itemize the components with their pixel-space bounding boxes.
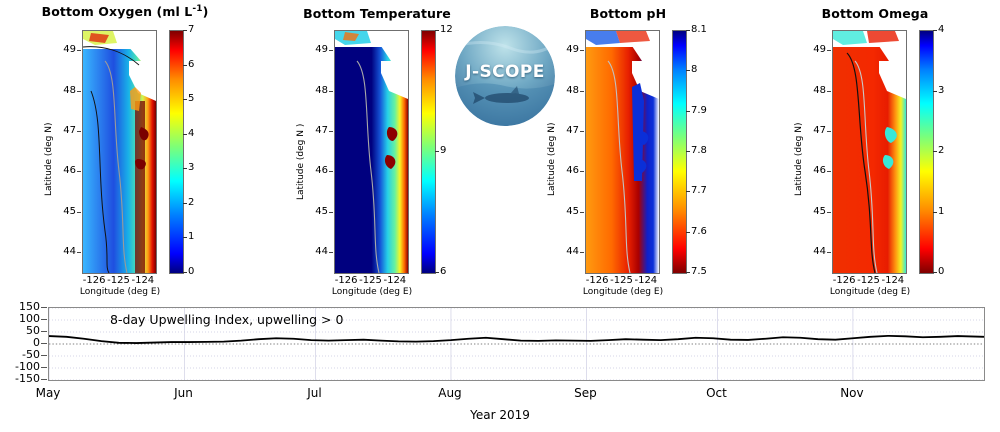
y-tick-bottom-oxygen: 47	[54, 125, 76, 136]
colorbar-ph	[672, 30, 687, 274]
colorbar-tick-bottom-oxygen: 5	[188, 93, 194, 104]
x-tick-bottom-omega: -124	[876, 275, 910, 286]
map-raster-ph	[586, 31, 659, 273]
chart-x-tick-label: Aug	[425, 386, 475, 400]
y-tick-bottom-oxygen: 49	[54, 44, 76, 55]
chart-data-line	[49, 336, 984, 343]
colorbar-tick-bottom-omega: 2	[938, 145, 944, 156]
chart-x-tick-label: Oct	[691, 386, 741, 400]
y-tick-bottom-temperature: 44	[306, 246, 328, 257]
y-tick-bottom-omega: 47	[804, 125, 826, 136]
y-tick-bottom-ph: 49	[557, 44, 579, 55]
colorbar-tick-bottom-oxygen: 0	[188, 266, 194, 277]
colorbar-tick-bottom-ph: 7.7	[691, 185, 707, 196]
y-tick-bottom-temperature: 48	[306, 85, 328, 96]
chart-y-tick-label: -150	[0, 372, 40, 385]
chart-x-tick-label: Jul	[290, 386, 340, 400]
y-tick-bottom-oxygen: 45	[54, 206, 76, 217]
panel-title-bottom-ph: Bottom pH	[503, 6, 753, 21]
x-tick-bottom-temperature: -124	[378, 275, 412, 286]
panel-title-bottom-oxygen: Bottom Oxygen (ml L-1)	[0, 4, 250, 19]
chart-x-tick-label: Sep	[560, 386, 610, 400]
colorbar-tick-bottom-oxygen: 1	[188, 231, 194, 242]
colorbar-oxygen	[169, 30, 184, 274]
y-tick-bottom-oxygen: 48	[54, 85, 76, 96]
map-image-bottom-oxygen	[82, 30, 157, 274]
chart-x-axis-label: Year 2019	[0, 408, 1000, 422]
y-tick-bottom-ph: 45	[557, 206, 579, 217]
colorbar-tick-bottom-ph: 7.5	[691, 266, 707, 277]
colorbar-tick-bottom-ph: 7.8	[691, 145, 707, 156]
map-image-bottom-temperature	[334, 30, 409, 274]
y-tick-bottom-ph: 48	[557, 85, 579, 96]
colorbar-tick-bottom-ph: 7.6	[691, 226, 707, 237]
panel-title-text: Bottom pH	[590, 6, 666, 21]
j-scope-logo: J-SCOPE	[455, 26, 555, 126]
chart-x-tick-label: Jun	[158, 386, 208, 400]
map-image-bottom-ph	[585, 30, 660, 274]
colorbar-tick-bottom-ph: 8	[691, 64, 697, 75]
colorbar-tick-bottom-omega: 0	[938, 266, 944, 277]
panel-title-superscript: -1	[192, 4, 202, 14]
panel-title-bottom-omega: Bottom Omega	[750, 6, 1000, 21]
y-tick-bottom-temperature: 49	[306, 44, 328, 55]
y-axis-label-temperature: Latitude (deg N )	[296, 124, 306, 200]
map-raster-temperature	[335, 31, 408, 273]
y-tick-bottom-omega: 48	[804, 85, 826, 96]
colorbar-tick-bottom-temperature: 6	[440, 266, 446, 277]
colorbar-tick-bottom-oxygen: 6	[188, 59, 194, 70]
upwelling-index-chart: 8-day Upwelling Index, upwelling > 0 150…	[0, 296, 1000, 432]
chart-x-tick-label: May	[23, 386, 73, 400]
colorbar-tick-bottom-oxygen: 3	[188, 162, 194, 173]
y-axis-label-omega: Latitude (deg N)	[794, 123, 804, 196]
colorbar-tick-bottom-oxygen: 7	[188, 24, 194, 35]
panel-title-bottom-temperature: Bottom Temperature	[252, 6, 502, 21]
y-tick-bottom-temperature: 47	[306, 125, 328, 136]
map-panel-bottom-omega: Bottom Omega Latitude (deg N) Longitude …	[750, 0, 1000, 295]
colorbar-tick-bottom-oxygen: 4	[188, 128, 194, 139]
y-axis-label-oxygen: Latitude (deg N)	[44, 123, 54, 196]
chart-x-tick-label: Nov	[827, 386, 877, 400]
colorbar-tick-bottom-omega: 1	[938, 206, 944, 217]
x-tick-bottom-oxygen: -124	[126, 275, 160, 286]
colorbar-tick-bottom-ph: 7.9	[691, 105, 707, 116]
map-raster-omega	[833, 31, 906, 273]
y-tick-bottom-ph: 46	[557, 165, 579, 176]
colorbar-tick-bottom-temperature: 9	[440, 145, 446, 156]
colorbar-temperature	[421, 30, 436, 274]
y-tick-bottom-ph: 44	[557, 246, 579, 257]
map-panel-bottom-temperature: Bottom Temperature Latitude (deg N ) L	[252, 0, 502, 295]
x-tick-bottom-ph: -124	[629, 275, 663, 286]
panel-title-tail: )	[203, 4, 209, 19]
map-raster-oxygen	[83, 31, 156, 273]
y-axis-label-ph: Latitude (deg N)	[547, 123, 557, 196]
map-image-bottom-omega	[832, 30, 907, 274]
logo-text: J-SCOPE	[455, 62, 555, 82]
colorbar-tick-bottom-temperature: 12	[440, 24, 453, 35]
colorbar-omega	[919, 30, 934, 274]
y-tick-bottom-temperature: 45	[306, 206, 328, 217]
panel-title-text: Bottom Temperature	[303, 6, 451, 21]
panel-title-text: Bottom Omega	[822, 6, 929, 21]
y-tick-bottom-ph: 47	[557, 125, 579, 136]
y-tick-bottom-temperature: 46	[306, 165, 328, 176]
map-panel-bottom-oxygen: Bottom Oxygen (ml L-1)	[0, 0, 250, 295]
y-tick-bottom-omega: 45	[804, 206, 826, 217]
colorbar-tick-bottom-omega: 3	[938, 85, 944, 96]
y-tick-bottom-omega: 49	[804, 44, 826, 55]
y-tick-bottom-omega: 46	[804, 165, 826, 176]
y-tick-bottom-omega: 44	[804, 246, 826, 257]
panel-title-text: Bottom Oxygen (ml L	[42, 4, 193, 19]
colorbar-tick-bottom-oxygen: 2	[188, 197, 194, 208]
chart-annotation: 8-day Upwelling Index, upwelling > 0	[110, 312, 343, 327]
colorbar-tick-bottom-omega: 4	[938, 24, 944, 35]
y-tick-bottom-oxygen: 44	[54, 246, 76, 257]
colorbar-tick-bottom-ph: 8.1	[691, 24, 707, 35]
y-tick-bottom-oxygen: 46	[54, 165, 76, 176]
